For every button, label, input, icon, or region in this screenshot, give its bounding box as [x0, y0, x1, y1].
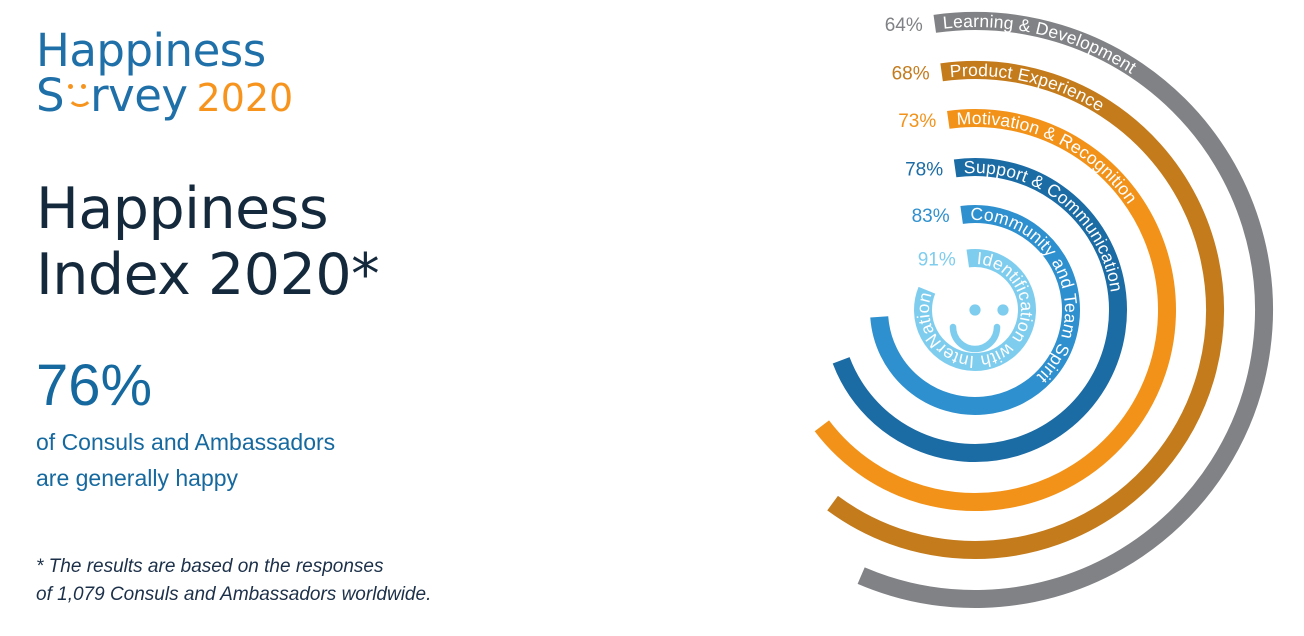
left-content-panel: Happiness S rvey2020 Happiness Index 202…: [0, 0, 740, 636]
arc-percentage-label: 73%: [898, 111, 936, 132]
logo-smiley-u-icon: [64, 73, 90, 118]
logo-word-happiness: Happiness: [36, 28, 266, 73]
smiley-face-icon: [953, 304, 1009, 349]
arc-percentage-label: 64%: [885, 15, 923, 36]
brand-logo: Happiness S rvey2020: [36, 28, 336, 128]
logo-year: 2020: [197, 76, 294, 120]
radial-bar-chart: Learning & DevelopmentProduct Experience…: [700, 0, 1304, 636]
logo-survey-prefix: S: [36, 69, 64, 122]
logo-second-line: S rvey2020: [36, 73, 293, 118]
smiley-eye-left-icon: [969, 304, 980, 315]
arc-percentage-label: 91%: [918, 250, 956, 271]
arc-percentage-label: 78%: [905, 159, 943, 180]
arc-label: Product Experience: [949, 60, 1108, 116]
arc-label-layer: Learning & DevelopmentProduct Experience…: [700, 0, 1142, 388]
smiley-eye-left-icon: [68, 84, 73, 89]
percentage-label-layer: 64%68%73%78%83%91%: [885, 15, 956, 271]
footnote: * The results are based on the responses…: [36, 553, 431, 608]
smiley-eye-right-icon: [81, 84, 86, 89]
page-title: Happiness Index 2020*: [36, 176, 379, 308]
arc-percentage-label: 83%: [912, 206, 950, 227]
smiley-mouth-icon: [953, 327, 997, 349]
smiley-eye-right-icon: [997, 304, 1008, 315]
arc-layer: [822, 21, 1264, 599]
chart-canvas: Learning & DevelopmentProduct Experience…: [700, 0, 1304, 636]
arc-label: Identification with InterNations: [700, 0, 1037, 372]
smiley-mouth-icon: [67, 91, 93, 107]
logo-survey-suffix: rvey: [90, 69, 187, 122]
headline-stat-value: 76%: [36, 357, 152, 415]
headline-stat-description: of Consuls and Ambassadors are generally…: [36, 425, 335, 496]
arc-percentage-label: 68%: [892, 63, 930, 84]
